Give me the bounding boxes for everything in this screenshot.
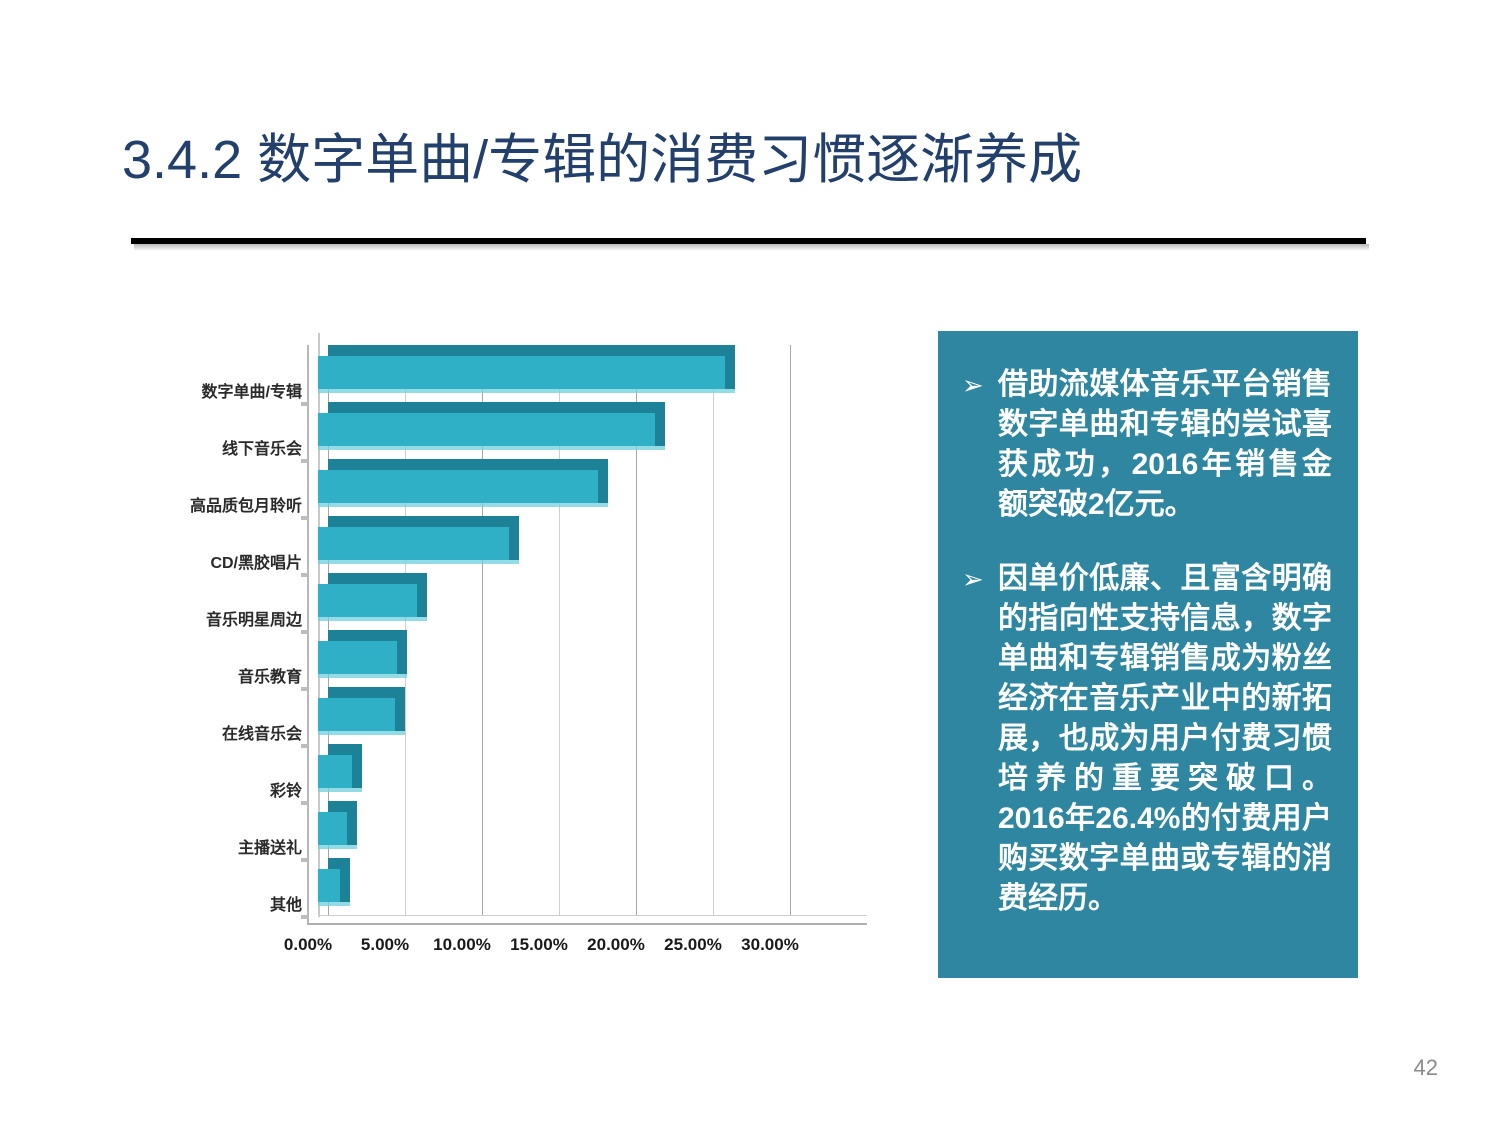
arrow-bullet-icon: ➢ (952, 559, 998, 599)
info-panel-bullets: ➢借助流媒体音乐平台销售数字单曲和专辑的尝试喜获成功，2016年销售金额突破2亿… (952, 365, 1332, 919)
xaxis-tick-label: 30.00% (741, 935, 799, 955)
xaxis-tick-label: 15.00% (510, 935, 568, 955)
chart-xaxis-labels: 0.00%5.00%10.00%15.00%20.00%25.00%30.00% (150, 330, 910, 980)
title-divider-shadow (134, 244, 1369, 251)
xaxis-tick-label: 10.00% (433, 935, 491, 955)
xaxis-tick-label: 5.00% (361, 935, 409, 955)
bar-chart: 数字单曲/专辑线下音乐会高品质包月聆听CD/黑胶唱片音乐明星周边音乐教育在线音乐… (150, 330, 910, 980)
chart-plot-region: 数字单曲/专辑线下音乐会高品质包月聆听CD/黑胶唱片音乐明星周边音乐教育在线音乐… (150, 330, 910, 980)
page-title: 3.4.2 数字单曲/专辑的消费习惯逐渐养成 (122, 128, 1372, 192)
xaxis-tick-label: 0.00% (284, 935, 332, 955)
info-panel: ➢借助流媒体音乐平台销售数字单曲和专辑的尝试喜获成功，2016年销售金额突破2亿… (938, 331, 1358, 978)
bullet-item: ➢借助流媒体音乐平台销售数字单曲和专辑的尝试喜获成功，2016年销售金额突破2亿… (952, 365, 1332, 525)
bullet-text: 因单价低廉、且富含明确的指向性支持信息，数字单曲和专辑销售成为粉丝经济在音乐产业… (998, 559, 1332, 919)
xaxis-tick-label: 20.00% (587, 935, 645, 955)
bullet-text: 借助流媒体音乐平台销售数字单曲和专辑的尝试喜获成功，2016年销售金额突破2亿元… (998, 365, 1332, 525)
xaxis-tick-label: 25.00% (664, 935, 722, 955)
arrow-bullet-icon: ➢ (952, 365, 998, 405)
bullet-item: ➢因单价低廉、且富含明确的指向性支持信息，数字单曲和专辑销售成为粉丝经济在音乐产… (952, 559, 1332, 919)
page-number: 42 (1414, 1055, 1438, 1081)
